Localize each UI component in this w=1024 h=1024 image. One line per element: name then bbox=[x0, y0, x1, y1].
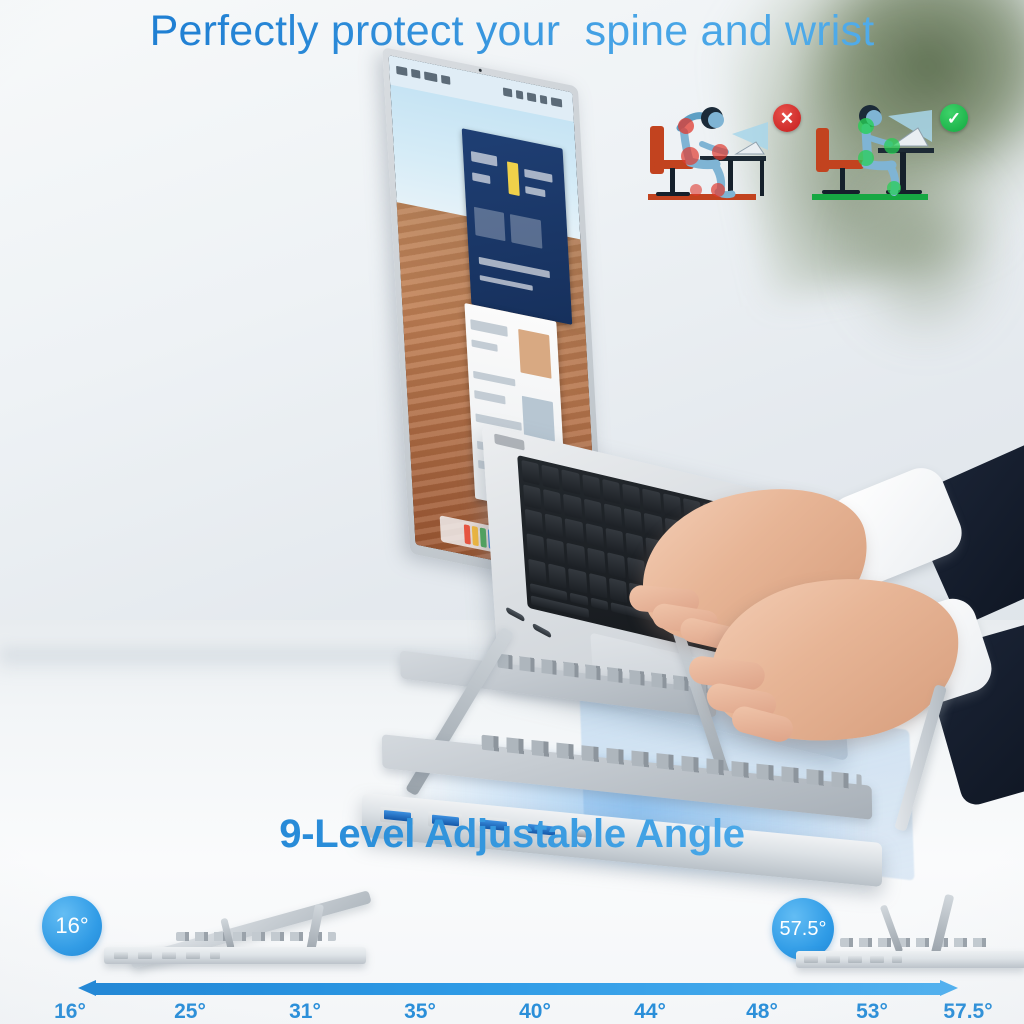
stand-profile-high-angle bbox=[796, 818, 1024, 968]
page-title: Perfectly protect your spine and wrist bbox=[0, 4, 1024, 58]
profile-port bbox=[870, 956, 884, 963]
stand-profile-low-angle bbox=[104, 888, 366, 964]
screen-window-dark bbox=[462, 128, 573, 325]
profile-port-usbc bbox=[892, 956, 902, 963]
profile-ratchet-teeth bbox=[840, 938, 990, 947]
angle-scale: 16°25°31°35°40°44°48°53°57.5° bbox=[0, 1000, 1024, 1024]
angle-tick: 48° bbox=[746, 1000, 778, 1024]
brand-logo bbox=[494, 433, 525, 450]
angle-tick: 16° bbox=[54, 1000, 86, 1024]
angle-range-arrow bbox=[78, 981, 958, 997]
angle-tick: 35° bbox=[404, 1000, 436, 1024]
profile-port bbox=[114, 952, 128, 959]
min-angle-badge: 16° bbox=[42, 896, 102, 956]
angle-tick: 53° bbox=[856, 1000, 888, 1024]
profile-port bbox=[826, 956, 840, 963]
profile-port-usbc bbox=[210, 952, 220, 959]
profile-port bbox=[138, 952, 152, 959]
angle-tick: 57.5° bbox=[943, 1000, 992, 1024]
profile-hub-body bbox=[796, 951, 1024, 968]
angle-tick: 44° bbox=[634, 1000, 666, 1024]
profile-port bbox=[162, 952, 176, 959]
arrow-bar bbox=[94, 983, 942, 995]
product-marketing-image: Perfectly protect your spine and wrist bbox=[0, 0, 1024, 1024]
profile-port bbox=[848, 956, 862, 963]
webcam-icon bbox=[479, 69, 482, 73]
typing-hands bbox=[640, 460, 1024, 800]
arrow-head-right-icon bbox=[940, 980, 958, 996]
profile-port bbox=[186, 952, 200, 959]
angle-tick: 31° bbox=[289, 1000, 321, 1024]
correct-mark-icon: ✓ bbox=[940, 104, 968, 132]
angle-tick: 25° bbox=[174, 1000, 206, 1024]
profile-hub-body bbox=[104, 947, 366, 964]
finger bbox=[729, 704, 796, 745]
profile-port bbox=[804, 956, 818, 963]
angle-tick: 40° bbox=[519, 1000, 551, 1024]
